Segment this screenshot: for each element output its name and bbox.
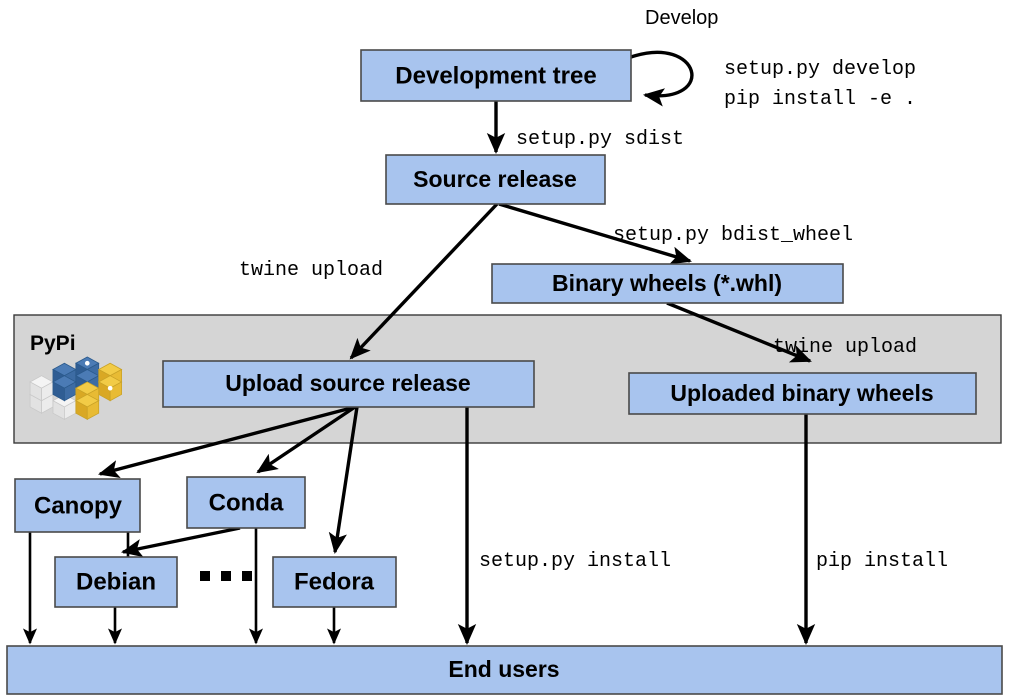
node-upload-source-release[interactable]: Upload source release — [163, 361, 534, 407]
edge-label-setup-py-develop: setup.py develop — [724, 58, 916, 81]
node-binary-wheels-label: Binary wheels (*.whl) — [552, 270, 782, 296]
edge-label-pip-install-editable: pip install -e . — [724, 88, 916, 111]
node-fedora-label: Fedora — [294, 568, 375, 595]
node-conda[interactable]: Conda — [187, 477, 305, 528]
node-uploaded-binary-wheels[interactable]: Uploaded binary wheels — [629, 373, 976, 414]
node-canopy-label: Canopy — [34, 492, 123, 519]
node-source-release-label: Source release — [413, 166, 577, 192]
node-development-tree[interactable]: Development tree — [361, 50, 631, 101]
edge-label-pip-install: pip install — [816, 550, 948, 573]
packaging-flow-diagram: PyPi — [0, 0, 1009, 698]
node-end-users[interactable]: End users — [7, 646, 1002, 694]
edge-label-develop: Develop — [645, 7, 718, 29]
node-upload-source-release-label: Upload source release — [225, 370, 470, 396]
node-conda-label: Conda — [209, 489, 284, 516]
edge-label-setup-py-sdist: setup.py sdist — [516, 128, 684, 151]
node-binary-wheels[interactable]: Binary wheels (*.whl) — [492, 264, 843, 303]
node-source-release[interactable]: Source release — [386, 155, 605, 204]
node-end-users-label: End users — [448, 656, 559, 682]
ellipsis-more-distros — [200, 571, 252, 581]
node-debian-label: Debian — [76, 568, 156, 595]
edge-label-setup-py-install: setup.py install — [479, 550, 671, 573]
node-debian[interactable]: Debian — [55, 557, 177, 607]
pypi-group-label: PyPi — [30, 332, 76, 355]
node-uploaded-binary-wheels-label: Uploaded binary wheels — [670, 380, 933, 406]
edge-label-setup-py-bdist-wheel: setup.py bdist_wheel — [613, 224, 853, 247]
node-fedora[interactable]: Fedora — [273, 557, 396, 607]
node-canopy[interactable]: Canopy — [15, 479, 140, 532]
edge-label-twine-upload-wheels: twine upload — [773, 336, 917, 359]
edge-develop-selfloop — [631, 52, 692, 95]
edge-label-twine-upload-source: twine upload — [239, 259, 383, 282]
node-development-tree-label: Development tree — [395, 62, 596, 89]
diagram-canvas: PyPi — [0, 0, 1009, 698]
